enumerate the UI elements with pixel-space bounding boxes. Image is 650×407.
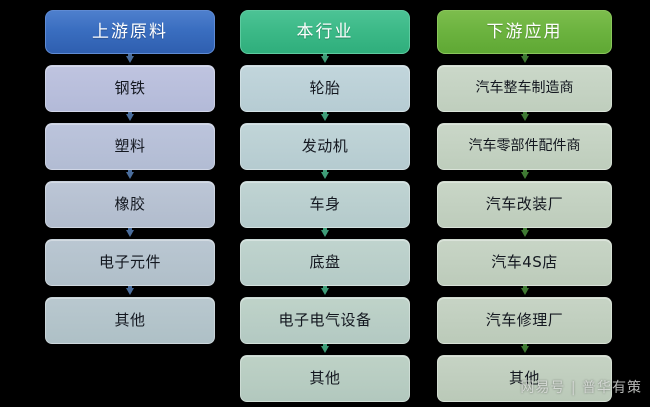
connector-arrow-down (240, 54, 410, 65)
chain-node[interactable]: 汽车改装厂 (437, 181, 612, 228)
chain-node[interactable]: 其他 (240, 355, 410, 402)
arrow-down-icon (126, 172, 134, 179)
arrow-down-icon (321, 56, 329, 63)
connector-arrow-down (45, 228, 215, 239)
connector-arrow-down (45, 54, 215, 65)
column-header-industry[interactable]: 本行业 (240, 10, 410, 54)
chain-node[interactable]: 其他 (437, 355, 612, 402)
arrow-down-icon (126, 114, 134, 121)
chain-node[interactable]: 电子电气设备 (240, 297, 410, 344)
connector-arrow-down (240, 112, 410, 123)
arrow-down-icon (521, 288, 529, 295)
chain-node[interactable]: 发动机 (240, 123, 410, 170)
connector-arrow-down (45, 170, 215, 181)
chain-node[interactable]: 汽车整车制造商 (437, 65, 612, 112)
arrow-down-icon (126, 56, 134, 63)
arrow-down-icon (521, 172, 529, 179)
chain-node[interactable]: 底盘 (240, 239, 410, 286)
connector-arrow-down (240, 286, 410, 297)
chain-node[interactable]: 电子元件 (45, 239, 215, 286)
arrow-down-icon (521, 114, 529, 121)
connector-arrow-down (240, 228, 410, 239)
column-header-upstream[interactable]: 上游原料 (45, 10, 215, 54)
arrow-down-icon (321, 172, 329, 179)
arrow-down-icon (321, 114, 329, 121)
arrow-down-icon (321, 346, 329, 353)
connector-arrow-down (437, 344, 612, 355)
chain-node[interactable]: 轮胎 (240, 65, 410, 112)
connector-arrow-down (437, 286, 612, 297)
chain-node[interactable]: 汽车零部件配件商 (437, 123, 612, 170)
chain-node[interactable]: 车身 (240, 181, 410, 228)
arrow-down-icon (521, 230, 529, 237)
value-chain-diagram: 上游原料钢铁塑料橡胶电子元件其他本行业轮胎发动机车身底盘电子电气设备其他下游应用… (0, 0, 650, 407)
connector-arrow-down (45, 112, 215, 123)
connector-arrow-down (437, 54, 612, 65)
chain-node[interactable]: 塑料 (45, 123, 215, 170)
connector-arrow-down (437, 112, 612, 123)
arrow-down-icon (126, 288, 134, 295)
chain-node[interactable]: 其他 (45, 297, 215, 344)
arrow-down-icon (126, 230, 134, 237)
chain-node[interactable]: 橡胶 (45, 181, 215, 228)
chain-column-downstream: 下游应用汽车整车制造商汽车零部件配件商汽车改装厂汽车4S店汽车修理厂其他 (437, 10, 612, 402)
connector-arrow-down (240, 344, 410, 355)
arrow-down-icon (521, 56, 529, 63)
chain-column-upstream: 上游原料钢铁塑料橡胶电子元件其他 (45, 10, 215, 344)
chain-node[interactable]: 钢铁 (45, 65, 215, 112)
connector-arrow-down (437, 228, 612, 239)
arrow-down-icon (321, 288, 329, 295)
connector-arrow-down (437, 170, 612, 181)
chain-node[interactable]: 汽车4S店 (437, 239, 612, 286)
arrow-down-icon (521, 346, 529, 353)
arrow-down-icon (321, 230, 329, 237)
chain-node[interactable]: 汽车修理厂 (437, 297, 612, 344)
connector-arrow-down (45, 286, 215, 297)
connector-arrow-down (240, 170, 410, 181)
chain-column-industry: 本行业轮胎发动机车身底盘电子电气设备其他 (240, 10, 410, 402)
column-header-downstream[interactable]: 下游应用 (437, 10, 612, 54)
